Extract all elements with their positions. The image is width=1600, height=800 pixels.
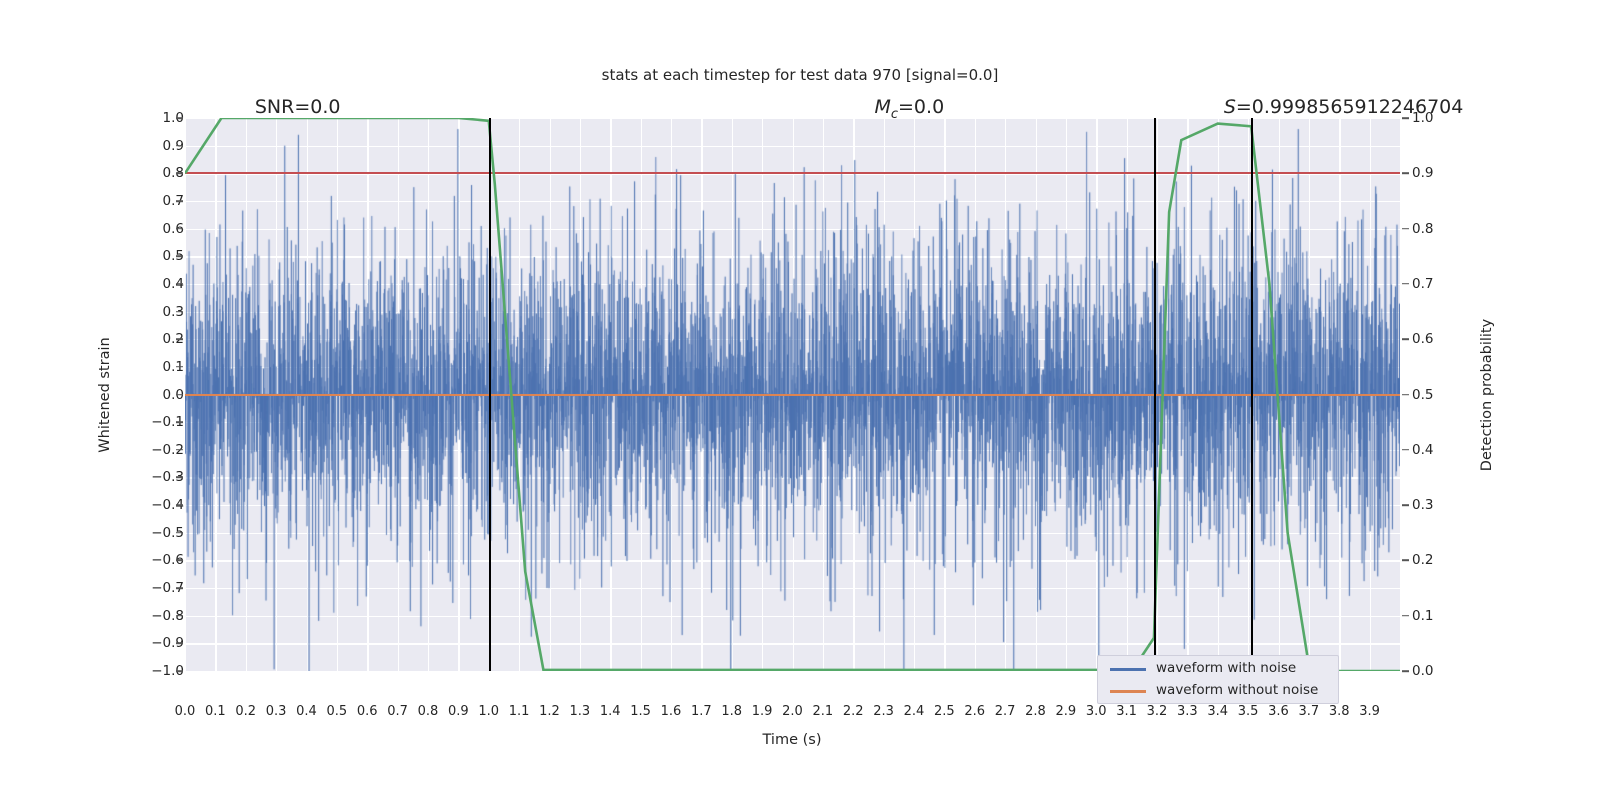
y-axis-left-tick-label: −0.4 <box>124 497 184 513</box>
y-axis-right-tick-mark <box>1402 560 1409 562</box>
legend-label: waveform without noise <box>1156 682 1318 698</box>
y-axis-left-tick-mark <box>176 560 183 562</box>
y-axis-left-tick-label: 0.0 <box>124 387 184 403</box>
y-axis-left-tick-mark <box>176 173 183 175</box>
y-axis-left-tick-label: 0.3 <box>124 304 184 320</box>
y-axis-right-tick-label: 0.9 <box>1412 165 1472 181</box>
y-axis-right-tick-mark <box>1402 670 1409 672</box>
y-axis-left-tick-mark <box>176 228 183 230</box>
y-axis-left-tick-mark <box>176 366 183 368</box>
y-axis-left-tick-mark <box>176 421 183 423</box>
y-axis-left-tick-label: −0.5 <box>124 525 184 541</box>
x-axis-label: Time (s) <box>763 732 822 748</box>
y-axis-right-tick-label: 0.4 <box>1412 442 1472 458</box>
y-axis-left-tick-mark <box>176 145 183 147</box>
y-axis-right-tick-label: 0.3 <box>1412 497 1472 513</box>
y-axis-left-tick-label: 0.9 <box>124 138 184 154</box>
legend-item[interactable]: waveform with noise <box>1098 658 1338 681</box>
vertical-marker-line <box>489 118 491 671</box>
x-axis-tick-label: 3.9 <box>1350 704 1390 719</box>
y-axis-left-tick-label: −0.6 <box>124 552 184 568</box>
y-axis-left-tick-label: −0.7 <box>124 580 184 596</box>
y-axis-left-tick-mark <box>176 394 183 396</box>
chart-title: stats at each timestep for test data 970… <box>0 66 1600 84</box>
y-axis-right-tick-label: 0.2 <box>1412 552 1472 568</box>
y-axis-left-tick-label: −1.0 <box>124 663 184 679</box>
annotation-score: S=0.9998565912246704 <box>1224 96 1464 118</box>
y-axis-left-tick-label: 0.6 <box>124 221 184 237</box>
y-axis-left-tick-mark <box>176 255 183 257</box>
y-axis-right-tick-label: 0.0 <box>1412 663 1472 679</box>
plot-area[interactable] <box>185 118 1400 671</box>
y-axis-left-tick-mark <box>176 532 183 534</box>
y-axis-right-tick-label: 0.5 <box>1412 387 1472 403</box>
y-axis-left-tick-label: −0.9 <box>124 635 184 651</box>
y-axis-right-tick-mark <box>1402 338 1409 340</box>
y-axis-right-tick-label: 0.8 <box>1412 221 1472 237</box>
y-axis-left-tick-mark <box>176 477 183 479</box>
y-axis-left-tick-mark <box>176 504 183 506</box>
y-axis-left-tick-label: 0.5 <box>124 248 184 264</box>
y-axis-right-tick-mark <box>1402 504 1409 506</box>
y-axis-right-tick-mark <box>1402 228 1409 230</box>
y-axis-left-tick-label: 1.0 <box>124 110 184 126</box>
y-axis-left-tick-label: 0.1 <box>124 359 184 375</box>
y-axis-right-label: Detection probability <box>1479 319 1495 471</box>
y-axis-right-tick-label: 0.1 <box>1412 608 1472 624</box>
y-axis-left-tick-mark <box>176 283 183 285</box>
annotation-chirp-mass: Mc=0.0 <box>875 96 945 122</box>
y-axis-left-tick-mark <box>176 311 183 313</box>
y-axis-left-tick-mark <box>176 643 183 645</box>
legend-item[interactable]: waveform without noise <box>1098 680 1338 703</box>
y-axis-left-tick-mark <box>176 117 183 119</box>
y-axis-left-tick-label: 0.7 <box>124 193 184 209</box>
y-axis-left-tick-mark <box>176 338 183 340</box>
y-axis-right-tick-mark <box>1402 283 1409 285</box>
y-axis-right-tick-label: 0.7 <box>1412 276 1472 292</box>
y-axis-left-tick-label: 0.2 <box>124 331 184 347</box>
y-axis-left-tick-label: −0.1 <box>124 414 184 430</box>
y-axis-left-tick-mark <box>176 449 183 451</box>
legend-label: waveform with noise <box>1156 660 1296 676</box>
y-axis-right-tick-label: 0.6 <box>1412 331 1472 347</box>
y-axis-right-tick-mark <box>1402 394 1409 396</box>
y-axis-left-tick-mark <box>176 587 183 589</box>
y-axis-right-tick-mark <box>1402 615 1409 617</box>
y-axis-left-tick-mark <box>176 200 183 202</box>
y-axis-left-tick-mark <box>176 670 183 672</box>
y-axis-right-tick-mark <box>1402 173 1409 175</box>
annotation-snr: SNR=0.0 <box>255 96 341 118</box>
y-axis-left-tick-label: −0.3 <box>124 469 184 485</box>
y-axis-left-tick-label: 0.4 <box>124 276 184 292</box>
legend-color-swatch <box>1110 668 1146 671</box>
vertical-marker-line <box>1251 118 1253 671</box>
legend-color-swatch <box>1110 690 1146 693</box>
figure-canvas: stats at each timestep for test data 970… <box>0 0 1600 800</box>
legend-box[interactable]: waveform with noisewaveform without nois… <box>1097 655 1339 704</box>
y-axis-left-tick-mark <box>176 615 183 617</box>
y-axis-right-tick-mark <box>1402 449 1409 451</box>
y-axis-left-label: Whitened strain <box>97 337 113 452</box>
y-axis-left-tick-label: 0.8 <box>124 165 184 181</box>
y-axis-left-tick-label: −0.2 <box>124 442 184 458</box>
detection-probability-trace <box>185 118 1400 671</box>
y-axis-left-tick-label: −0.8 <box>124 608 184 624</box>
vertical-marker-line <box>1154 118 1156 671</box>
